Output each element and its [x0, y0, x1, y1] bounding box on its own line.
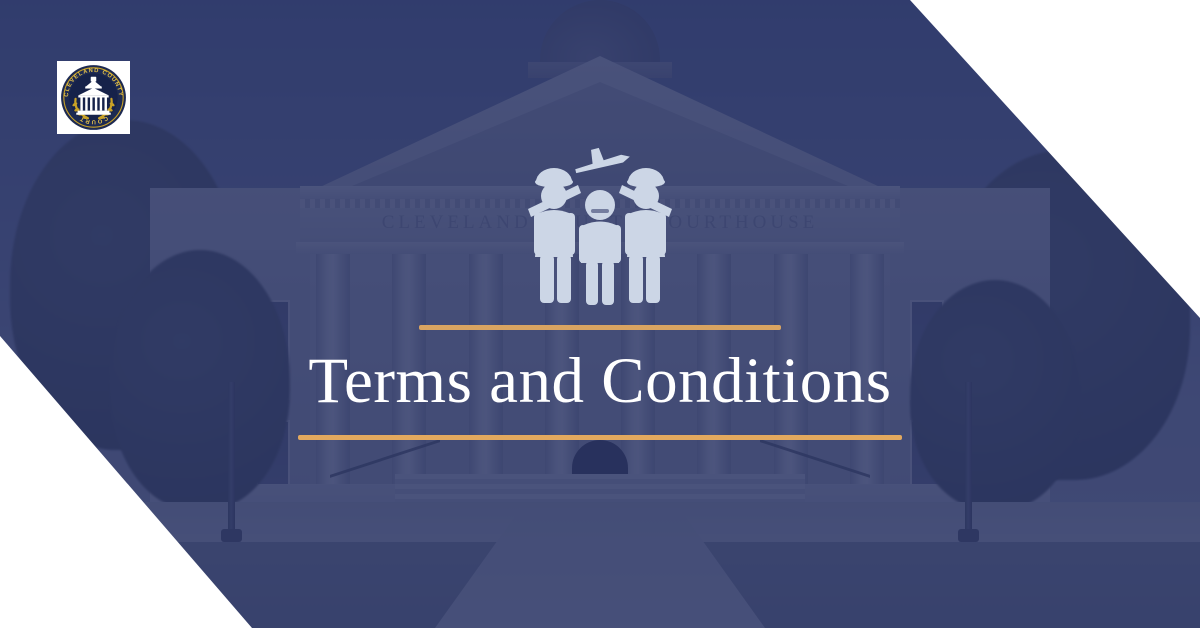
officer-left	[528, 168, 581, 303]
hero-content: Terms and Conditions	[0, 0, 1200, 628]
page-title: Terms and Conditions	[308, 347, 891, 415]
banner-canvas: CLEVELAND COUNTY COURTHOUSE	[0, 0, 1200, 628]
airplane-icon	[572, 143, 631, 174]
officer-right	[619, 168, 672, 303]
prisoner-transport-icon	[512, 143, 688, 313]
detainee-center	[579, 190, 621, 305]
divider-rule-bottom	[298, 435, 902, 440]
divider-rule-top	[419, 325, 781, 330]
escort-figures-icon	[512, 143, 688, 313]
